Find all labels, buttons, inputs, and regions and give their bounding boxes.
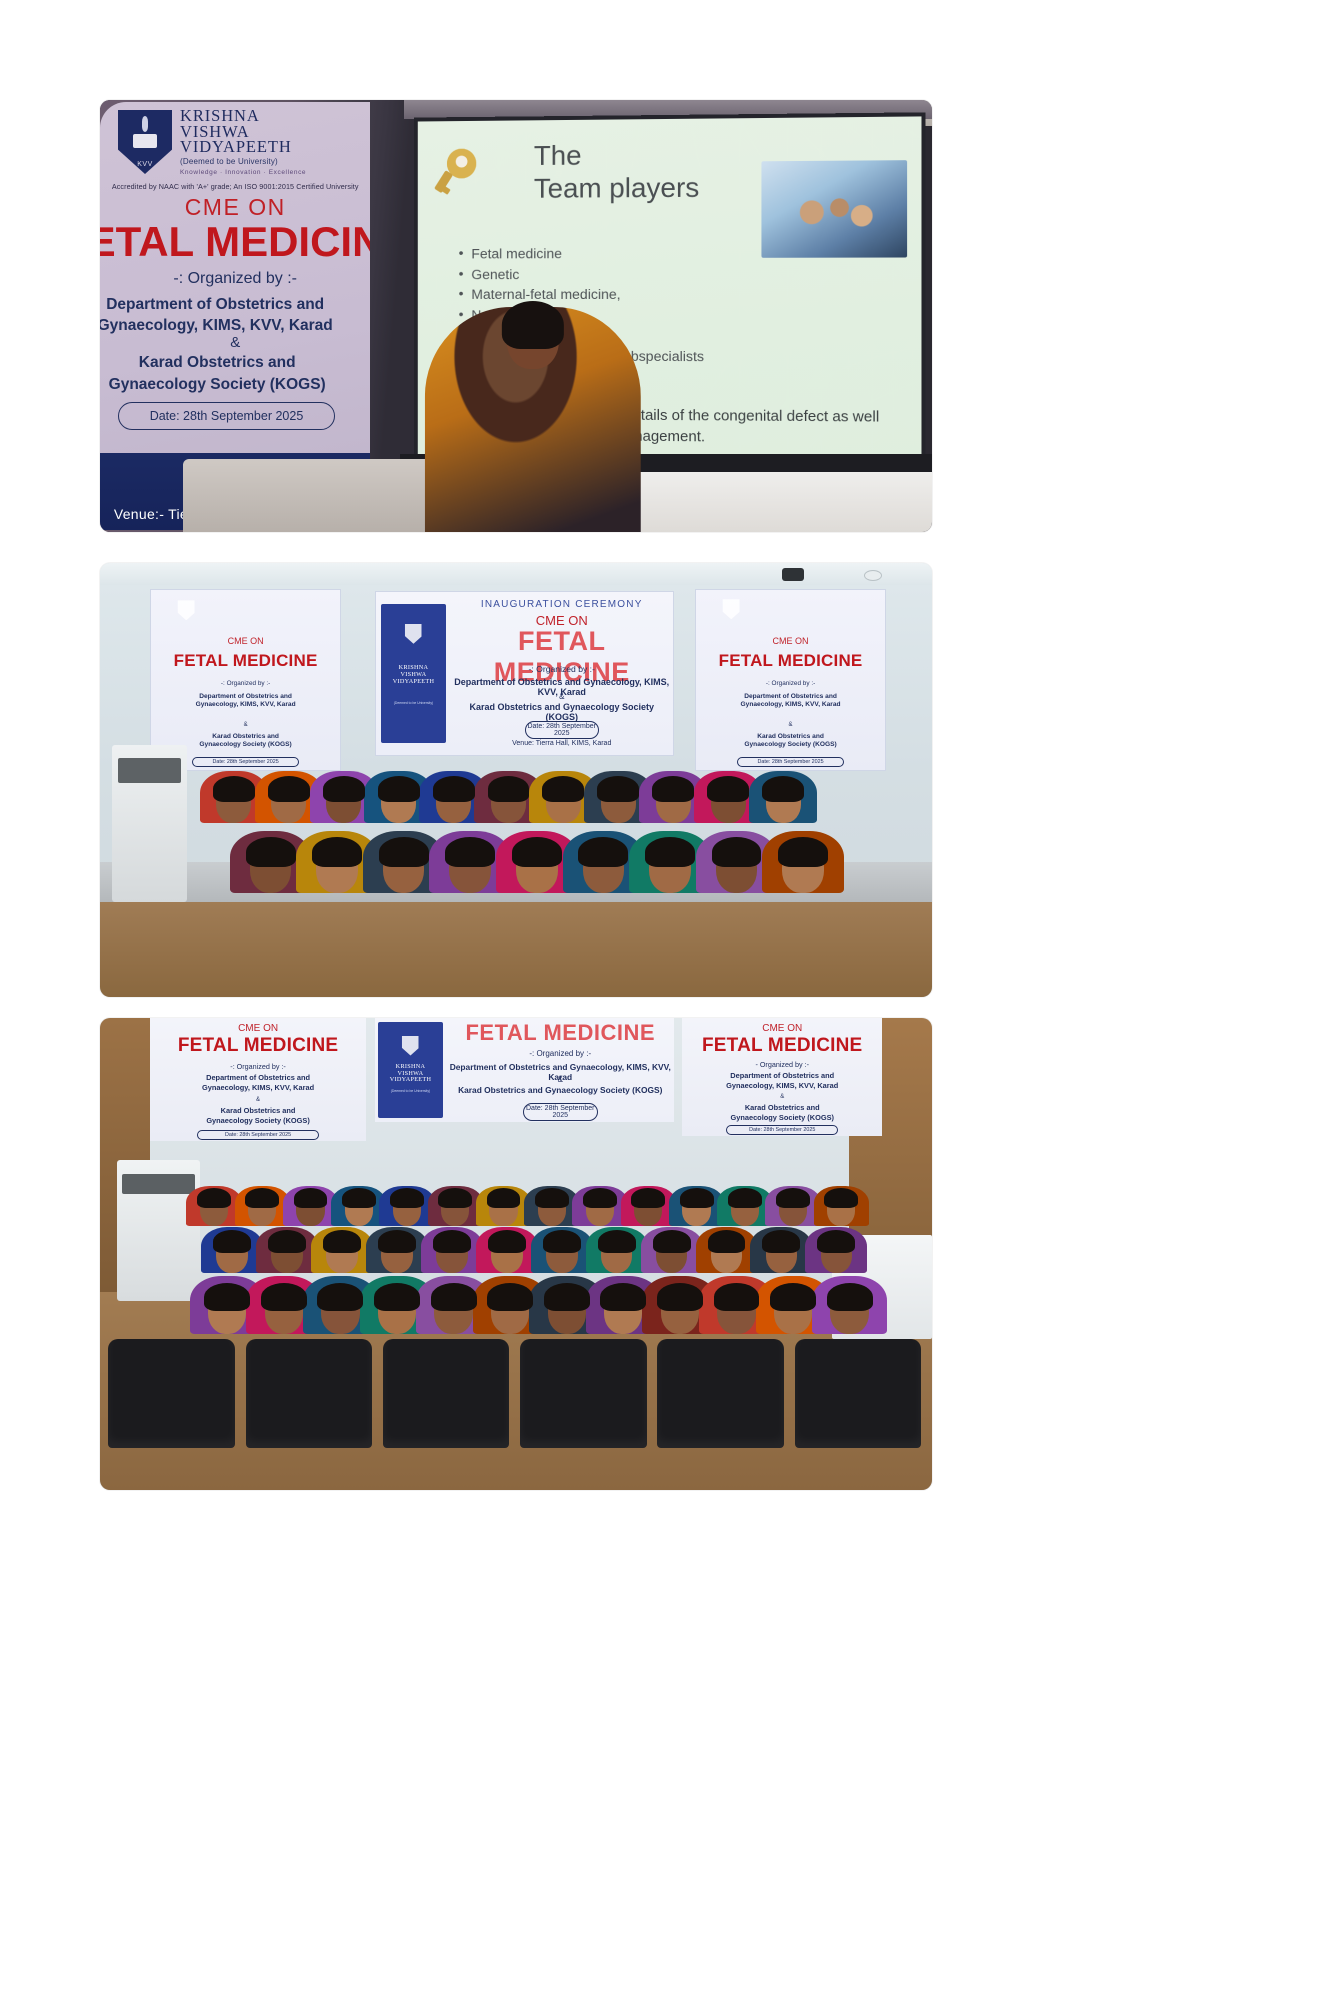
- person-figure: [216, 1236, 248, 1273]
- person-figure: [601, 1236, 633, 1273]
- person-figure: [779, 1192, 807, 1225]
- person-figure: [548, 1289, 586, 1334]
- tagline: Knowledge · Innovation · Excellence: [180, 169, 364, 176]
- person-figure: [516, 844, 558, 893]
- person-figure: [538, 1192, 566, 1225]
- person-figure: [766, 1236, 798, 1273]
- crest-initials: KVV: [118, 161, 172, 168]
- slide-title-line1: The: [533, 138, 698, 172]
- person-figure: [296, 1192, 324, 1225]
- person-figure: [345, 1192, 373, 1225]
- society-line: Karad Obstetrics and: [100, 352, 370, 374]
- person-figure: [717, 1289, 755, 1334]
- person-figure: [321, 1289, 359, 1334]
- person-figure: [381, 1236, 413, 1273]
- slide-bullet: Fetal medicine: [458, 244, 703, 265]
- person-figure: [436, 1236, 468, 1273]
- person-figure: [711, 1236, 743, 1273]
- chair: [108, 1339, 234, 1490]
- person-figure: [216, 782, 251, 823]
- chair: [520, 1339, 646, 1490]
- slide-title-line2: Team players: [533, 171, 698, 205]
- chair: [383, 1339, 509, 1490]
- ampersand: &: [100, 334, 370, 351]
- person-figure: [200, 1192, 228, 1225]
- person-figure: [774, 1289, 812, 1334]
- slide-title: The Team players: [533, 138, 698, 205]
- person-figure: [489, 1192, 517, 1225]
- person-figure: [649, 844, 691, 893]
- department-block: Department of Obstetrics and Gynaecology…: [100, 294, 370, 336]
- person-figure: [250, 844, 292, 893]
- person-figure: [491, 1289, 529, 1334]
- person-figure: [316, 844, 358, 893]
- slide-bullet: Genetic: [458, 265, 703, 286]
- person-figure: [656, 1236, 688, 1273]
- organized-by-label: -: Organized by :-: [100, 270, 370, 288]
- person-figure: [271, 1236, 303, 1273]
- person-figure: [434, 1289, 472, 1334]
- person-figure: [586, 1192, 614, 1225]
- person-figure: [731, 1192, 759, 1225]
- auditorium-chairs: [100, 1339, 932, 1490]
- photo2-people-group: [100, 563, 932, 997]
- person-figure: [546, 1236, 578, 1273]
- lecture-photo: The Team players Fetal medicine Genetic …: [100, 100, 932, 532]
- person-figure: [782, 844, 824, 893]
- person-figure: [381, 782, 416, 823]
- person-figure: [491, 1236, 523, 1273]
- chair: [795, 1339, 921, 1490]
- key-icon: [441, 149, 482, 195]
- society-line: Gynaecology Society (KOGS): [100, 374, 370, 396]
- cme-label: CME ON: [100, 194, 370, 221]
- person-figure: [449, 844, 491, 893]
- department-line: Department of Obstetrics and: [100, 294, 370, 315]
- person-figure: [383, 844, 425, 893]
- person-figure: [656, 782, 691, 823]
- person-figure: [716, 844, 758, 893]
- accreditation-text: Accredited by NAAC with 'A+' grade; An I…: [102, 182, 368, 191]
- person-figure: [393, 1192, 421, 1225]
- person-figure: [583, 844, 625, 893]
- chair: [657, 1339, 783, 1490]
- person-figure: [604, 1289, 642, 1334]
- person-figure: [208, 1289, 246, 1334]
- person-figure: [634, 1192, 662, 1225]
- person-figure: [546, 782, 581, 823]
- kvv-crest-icon: KVV: [118, 110, 172, 174]
- slide-photo-hands: [760, 160, 906, 258]
- person-figure: [830, 1289, 868, 1334]
- slide-bullet: Maternal-fetal medicine,: [458, 285, 703, 306]
- person-figure: [491, 782, 526, 823]
- department-line: Gynaecology, KIMS, KVV, Karad: [100, 315, 370, 336]
- event-date: Date: 28th September 2025: [118, 402, 335, 430]
- inauguration-group-photo: CME ON FETAL MEDICINE -: Organized by :-…: [100, 563, 932, 997]
- person-figure: [271, 782, 306, 823]
- university-name-block: KRISHNA VISHWA VIDYAPEETH (Deemed to be …: [180, 108, 364, 176]
- person-figure: [441, 1192, 469, 1225]
- person-figure: [601, 782, 636, 823]
- event-title: FETAL MEDICINE: [100, 218, 370, 266]
- delegates-group-photo: CME ON FETAL MEDICINE -: Organized by :-…: [100, 1018, 932, 1490]
- person-figure: [827, 1192, 855, 1225]
- person-figure: [766, 782, 801, 823]
- person-figure: [821, 1236, 853, 1273]
- deemed-text: (Deemed to be University): [180, 157, 364, 166]
- chair: [246, 1339, 372, 1490]
- person-figure: [248, 1192, 276, 1225]
- society-block: Karad Obstetrics and Gynaecology Society…: [100, 352, 370, 396]
- person-figure: [326, 782, 361, 823]
- person-figure: [265, 1289, 303, 1334]
- person-figure: [682, 1192, 710, 1225]
- person-figure: [661, 1289, 699, 1334]
- person-figure: [711, 782, 746, 823]
- person-figure: [378, 1289, 416, 1334]
- person-figure: [436, 782, 471, 823]
- document-page: The Team players Fetal medicine Genetic …: [0, 0, 1333, 2000]
- university-line: VIDYAPEETH: [180, 139, 364, 155]
- speaker-figure: [424, 307, 640, 532]
- person-figure: [326, 1236, 358, 1273]
